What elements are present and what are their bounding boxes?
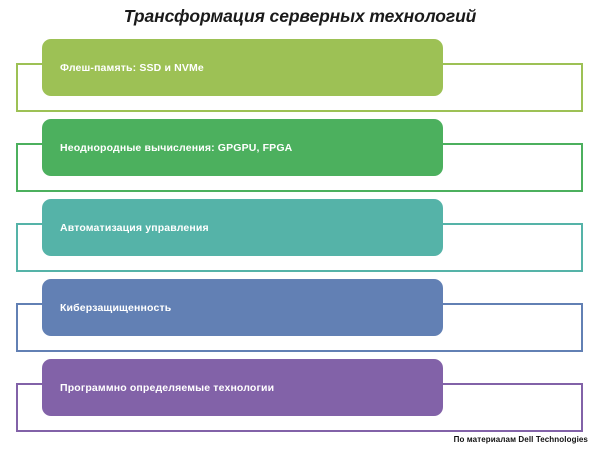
row-label: Программно определяемые технологии <box>60 382 274 394</box>
row-label: Неоднородные вычисления: GPGPU, FPGA <box>60 142 292 154</box>
row-bar[interactable]: Неоднородные вычисления: GPGPU, FPGA <box>42 119 443 176</box>
row-bar[interactable]: Автоматизация управления <box>42 199 443 256</box>
row-label: Киберзащищенность <box>60 302 171 314</box>
diagram-row: Автоматизация управления <box>0 198 600 274</box>
row-bar[interactable]: Флеш-память: SSD и NVMe <box>42 39 443 96</box>
source-attribution: По материалам Dell Technologies <box>454 435 588 444</box>
row-bar[interactable]: Киберзащищенность <box>42 279 443 336</box>
page-title: Трансформация серверных технологий <box>0 6 600 27</box>
row-bar[interactable]: Программно определяемые технологии <box>42 359 443 416</box>
slide-canvas: Трансформация серверных технологий Флеш-… <box>0 0 600 452</box>
row-label: Флеш-память: SSD и NVMe <box>60 62 204 74</box>
diagram-row: Флеш-память: SSD и NVMe <box>0 38 600 114</box>
diagram-row: Киберзащищенность <box>0 278 600 354</box>
diagram-row: Программно определяемые технологии <box>0 358 600 434</box>
diagram-row: Неоднородные вычисления: GPGPU, FPGA <box>0 118 600 194</box>
row-label: Автоматизация управления <box>60 222 209 234</box>
